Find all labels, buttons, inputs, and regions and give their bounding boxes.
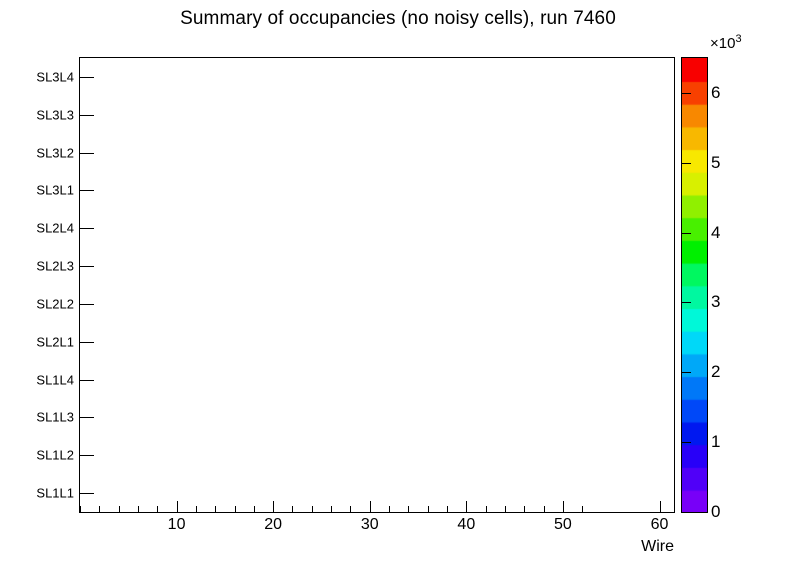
colorbar-tick bbox=[682, 93, 691, 94]
colorbar-tick-label-5: 5 bbox=[711, 153, 720, 173]
colorbar-tick-label-2: 2 bbox=[711, 362, 720, 382]
y-axis-label-sl1l4: SL1L4 bbox=[36, 372, 74, 387]
y-axis-label-sl2l3: SL2L3 bbox=[36, 259, 74, 274]
x-axis-label-20: 20 bbox=[264, 516, 282, 534]
y-axis-label-sl2l1: SL2L1 bbox=[36, 334, 74, 349]
x-tick-major bbox=[273, 501, 274, 512]
colorbar-frame bbox=[681, 57, 708, 513]
colorbar-tick bbox=[682, 372, 691, 373]
x-tick-minor bbox=[215, 506, 216, 512]
colorbar-tick-label-6: 6 bbox=[711, 83, 720, 103]
y-tick bbox=[80, 77, 94, 78]
y-axis-label-sl1l1: SL1L1 bbox=[36, 486, 74, 501]
colorbar-tick bbox=[682, 163, 691, 164]
x-axis-label-10: 10 bbox=[168, 516, 186, 534]
x-tick-minor bbox=[447, 506, 448, 512]
x-tick-minor bbox=[157, 506, 158, 512]
y-tick bbox=[80, 266, 94, 267]
x-tick-major bbox=[177, 501, 178, 512]
x-axis-title: Wire bbox=[641, 538, 674, 556]
y-tick bbox=[80, 228, 94, 229]
x-tick-minor bbox=[544, 506, 545, 512]
x-tick-minor bbox=[331, 506, 332, 512]
y-tick bbox=[80, 153, 94, 154]
colorbar-exponent: ×103 bbox=[710, 33, 742, 52]
x-tick-minor bbox=[80, 506, 81, 512]
colorbar-tick bbox=[682, 512, 691, 513]
colorbar-exponent-power: 3 bbox=[735, 33, 741, 45]
colorbar-tick bbox=[682, 302, 691, 303]
colorbar-tick-label-3: 3 bbox=[711, 292, 720, 312]
y-axis-label-sl2l2: SL2L2 bbox=[36, 296, 74, 311]
x-tick-minor bbox=[505, 506, 506, 512]
y-axis-label-sl2l4: SL2L4 bbox=[36, 221, 74, 236]
x-tick-minor bbox=[389, 506, 390, 512]
x-tick-minor bbox=[235, 506, 236, 512]
x-axis-label-30: 30 bbox=[361, 516, 379, 534]
y-tick bbox=[80, 190, 94, 191]
x-tick-major bbox=[370, 501, 371, 512]
x-tick-minor bbox=[254, 506, 255, 512]
page-title: Summary of occupancies (no noisy cells),… bbox=[0, 8, 796, 30]
y-tick bbox=[80, 417, 94, 418]
y-tick bbox=[80, 304, 94, 305]
y-tick bbox=[80, 455, 94, 456]
y-tick bbox=[80, 115, 94, 116]
y-axis-label-sl3l1: SL3L1 bbox=[36, 183, 74, 198]
x-tick-minor bbox=[99, 506, 100, 512]
root-canvas: Summary of occupancies (no noisy cells),… bbox=[0, 0, 796, 572]
x-tick-minor bbox=[582, 506, 583, 512]
colorbar-tick bbox=[682, 442, 691, 443]
x-tick-major bbox=[466, 501, 467, 512]
x-tick-minor bbox=[292, 506, 293, 512]
y-axis-label-sl1l3: SL1L3 bbox=[36, 410, 74, 425]
y-tick bbox=[80, 493, 94, 494]
colorbar-exponent-base: ×10 bbox=[710, 35, 735, 52]
colorbar-tick-label-1: 1 bbox=[711, 432, 720, 452]
plot-frame bbox=[79, 57, 675, 513]
x-tick-major bbox=[660, 501, 661, 512]
y-axis-label-sl3l3: SL3L3 bbox=[36, 107, 74, 122]
x-tick-minor bbox=[350, 506, 351, 512]
y-axis-labels: SL1L1SL1L2SL1L3SL1L4SL2L1SL2L2SL2L3SL2L4… bbox=[0, 0, 74, 572]
x-tick-minor bbox=[408, 506, 409, 512]
x-tick-minor bbox=[119, 506, 120, 512]
colorbar-tick-label-4: 4 bbox=[711, 223, 720, 243]
x-axis-label-40: 40 bbox=[457, 516, 475, 534]
y-axis-label-sl1l2: SL1L2 bbox=[36, 448, 74, 463]
x-tick-minor bbox=[486, 506, 487, 512]
x-tick-minor bbox=[524, 506, 525, 512]
x-tick-major bbox=[563, 501, 564, 512]
x-tick-minor bbox=[428, 506, 429, 512]
x-axis-label-50: 50 bbox=[554, 516, 572, 534]
y-tick bbox=[80, 342, 94, 343]
y-axis-label-sl3l2: SL3L2 bbox=[36, 145, 74, 160]
x-tick-minor bbox=[312, 506, 313, 512]
y-tick bbox=[80, 380, 94, 381]
x-axis-label-60: 60 bbox=[651, 516, 669, 534]
x-tick-minor bbox=[138, 506, 139, 512]
x-tick-minor bbox=[196, 506, 197, 512]
colorbar-tick bbox=[682, 233, 691, 234]
y-axis-label-sl3l4: SL3L4 bbox=[36, 69, 74, 84]
colorbar-tick-label-0: 0 bbox=[711, 502, 720, 522]
